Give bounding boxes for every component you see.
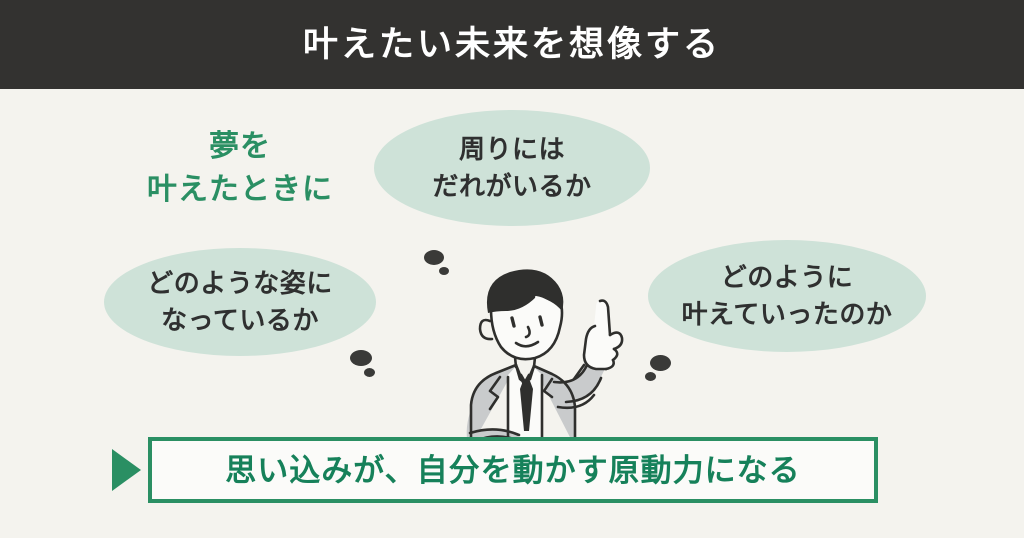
lead-text: 夢を 叶えたときに <box>104 126 376 211</box>
thought-bubble-left-line-1: どのような姿に <box>147 265 333 302</box>
thought-bubble-right: どのように 叶えていったのか <box>648 240 926 352</box>
header-bar: 叶えたい未来を想像する <box>0 0 1024 89</box>
thought-bubble-top-line-1: 周りには <box>459 131 565 168</box>
thought-dot-icon <box>650 355 671 371</box>
thought-dot-icon <box>364 368 375 377</box>
businessman-pointing-up-illustration <box>424 255 640 445</box>
lead-text-line-2: 叶えたときに <box>104 169 376 212</box>
callout-text: 思い込みが、自分を動かす原動力になる <box>225 455 800 486</box>
thought-bubble-top-line-2: だれがいるか <box>432 168 591 205</box>
callout-box: 思い込みが、自分を動かす原動力になる <box>148 437 878 503</box>
thought-bubble-top: 周りには だれがいるか <box>374 110 650 226</box>
thought-bubble-right-line-1: どのように <box>721 259 854 296</box>
triangle-right-icon <box>112 449 141 491</box>
thought-dot-icon <box>350 350 372 366</box>
thought-bubble-right-line-2: 叶えていったのか <box>682 296 893 333</box>
thought-bubble-left-line-2: なっているか <box>161 302 319 339</box>
slide-canvas: 叶えたい未来を想像する 夢を 叶えたときに 周りには だれがいるか どのような姿… <box>0 0 1024 538</box>
page-title: 叶えたい未来を想像する <box>303 27 721 62</box>
thought-dot-icon <box>645 372 656 381</box>
lead-text-line-1: 夢を <box>104 126 376 169</box>
thought-bubble-left: どのような姿に なっているか <box>104 248 376 356</box>
